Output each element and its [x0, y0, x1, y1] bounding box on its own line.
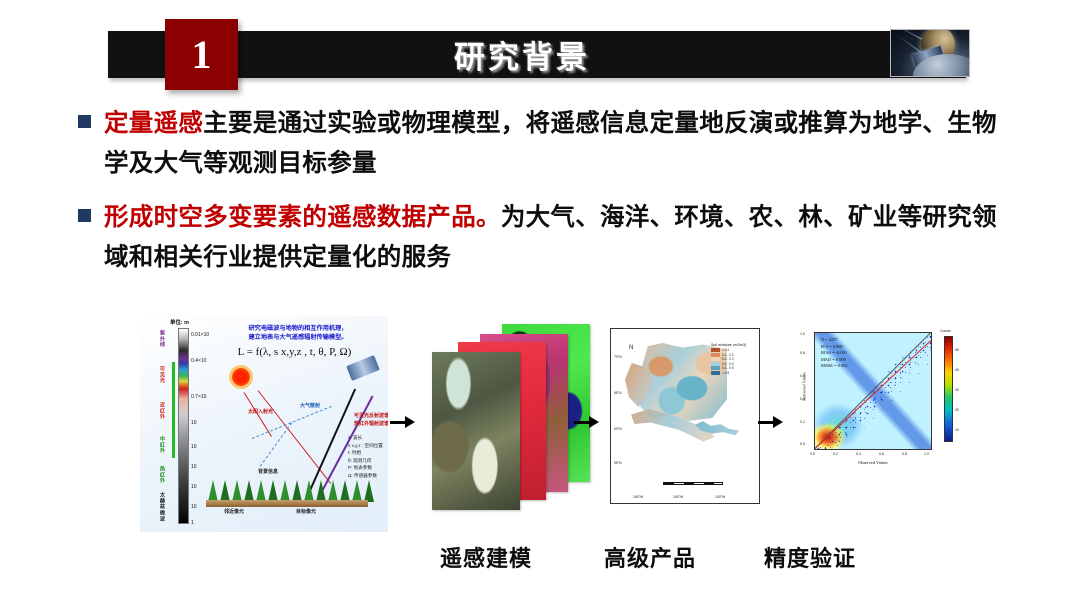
panel1-title: 研究电磁波与地物的相互作用机理， 建立地表与大气遥感辐射传输模型。 — [212, 324, 384, 342]
scatter-ylabel: Retrieved Values — [802, 347, 807, 427]
spectrum-band-microwave: 微波 — [159, 510, 166, 528]
colorbar-tick-3: 20 — [955, 408, 959, 412]
bullet-2-highlight: 形成时空多变要素的遥感数据产品。 — [104, 204, 501, 231]
map-ytick-2: 60°N — [614, 427, 622, 431]
legend-swatch — [711, 371, 720, 375]
bullet-item-2-text: 形成时空多变要素的遥感数据产品。为大气、海洋、环境、农、林、矿业等研究领域和相关… — [104, 198, 1018, 278]
density-colorbar — [944, 336, 953, 442]
figure-row: 单位: m 0.01×10 0.4×10 0.7×10 10 10 10 10 … — [140, 312, 970, 534]
spectrum-band-visible: 可见光 — [159, 366, 166, 400]
scatter-xtick-2: 0.4 — [856, 452, 861, 456]
bullet-1-body: 主要是通过实验或物理模型，将遥感信息定量地反演或推算为地学、生物学及大气等观测目… — [104, 110, 997, 177]
scatter-ytick-0: 0.0 — [800, 442, 805, 446]
sensor-path-label-2: 热红外辐射波谱 — [354, 420, 388, 427]
legend-label: > 0.5 — [722, 371, 729, 375]
scatter-xtick-4: 0.8 — [902, 452, 907, 456]
background-label: 背景信息 — [258, 468, 278, 475]
arrow-right-icon-1 — [390, 412, 416, 432]
arrow-right-icon-3 — [758, 412, 784, 432]
multispectral-image-stack — [416, 312, 596, 534]
spectrum-tick-0: 0.01×10 — [191, 332, 209, 338]
scatter-plot-area: N = 4257 R^2 = 0.889 BIAS = -0.001 MAD =… — [814, 332, 932, 450]
bullet-list: 定量遥感主要是通过实验或物理模型，将遥感信息定量地反演或推算为地学、生物学及大气… — [78, 104, 1018, 292]
panel1-title-line2: 建立地表与大气遥感辐射传输模型。 — [212, 333, 384, 342]
legend-row: > 0.5 — [711, 371, 749, 375]
legend-p: P: 地表参数 — [348, 464, 383, 472]
legend-row: 0.3 - 0.4 — [711, 362, 749, 366]
colorbar-tick-2: 30 — [955, 388, 959, 392]
panel1-variable-legend: λ: 波长 s x,y,z : 空间位置 t: 时相 θ: 观测几何 P: 地表… — [348, 434, 383, 479]
legend-label: 0.3 - 0.4 — [722, 362, 734, 366]
spectrum-tick-7: 10 — [191, 504, 197, 510]
map-xtick-0: 160°W — [633, 495, 643, 499]
panel1-title-line1: 研究电磁波与地物的相互作用机理， — [212, 324, 384, 333]
legend-label: 0.1 - 0.2 — [722, 353, 734, 357]
spectrum-scale: 单位: m 0.01×10 0.4×10 0.7×10 10 10 10 10 … — [156, 320, 196, 528]
colorbar-tick-1: 40 — [955, 368, 959, 372]
legend-t: t: 时相 — [348, 449, 383, 457]
legend-row: 0.4 - 0.5 — [711, 366, 749, 370]
satellite-sensor-icon — [346, 355, 380, 381]
scatter-xtick-3: 0.6 — [879, 452, 884, 456]
legend-swatch — [711, 353, 720, 357]
legend-s: s x,y,z : 空间位置 — [348, 442, 383, 450]
spectrum-band-tir: 热红外 — [159, 466, 166, 494]
image-layer-natural — [432, 352, 520, 510]
bullet-item-1-text: 定量遥感主要是通过实验或物理模型，将遥感信息定量地反演或推算为地学、生物学及大气… — [104, 104, 1018, 184]
visible-range-marker — [172, 362, 175, 458]
satellite-earth-photo-icon — [890, 29, 970, 77]
map-scalebar — [663, 482, 723, 485]
spectrum-band-nir: 近红外 — [159, 402, 166, 434]
spectrum-tick-8: 1 — [191, 520, 194, 526]
arrow-right-icon-2 — [574, 412, 600, 432]
section-number-badge: 1 — [165, 19, 238, 90]
bullet-item-2: 形成时空多变要素的遥感数据产品。为大气、海洋、环境、农、林、矿业等研究领域和相关… — [78, 198, 1018, 278]
caption-validation: 精度验证 — [764, 541, 856, 573]
map-ytick-0: 70°N — [614, 355, 622, 359]
legend-row: 0.2 - 0.3 — [711, 357, 749, 361]
legend-row: 0.1 - 0.2 — [711, 353, 749, 357]
bg-radiance-label: 邻近像元 — [224, 508, 244, 515]
scatter-ytick-5: 1.0 — [800, 332, 805, 336]
legend-label: < 0.1 — [722, 348, 729, 352]
spectrum-tick-4: 10 — [191, 444, 197, 450]
spectrum-tick-5: 10 — [191, 464, 197, 470]
legend-swatch — [711, 348, 720, 352]
radiative-transfer-diagram: 单位: m 0.01×10 0.4×10 0.7×10 10 10 10 10 … — [140, 316, 388, 532]
scatter-xlabel: Observed Values — [814, 460, 932, 465]
scatter-xtick-5: 1.0 — [924, 452, 929, 456]
forest-canopy-illustration — [208, 476, 366, 502]
colorbar-title: Counts — [940, 329, 951, 333]
map-legend: Soil moisture (m3/m3) < 0.1 0.1 - 0.2 0.… — [711, 343, 749, 375]
sun-ray-label: 太阳入射光 — [248, 408, 273, 415]
sun-icon — [232, 368, 250, 386]
legend-lambda: λ: 波长 — [348, 434, 383, 442]
bullet-item-1: 定量遥感主要是通过实验或物理模型，将遥感信息定量地反演或推算为地学、生物学及大气… — [78, 104, 1018, 184]
stat-bias: BIAS = -0.001 — [821, 350, 848, 357]
spectrum-band-uv: 紫外线 — [159, 330, 166, 360]
sensor-path-label-1: 可见光反射波谱 — [354, 412, 388, 419]
radiative-transfer-formula: L = f(λ, s x,y,z , t, θ, P, Ω) — [212, 346, 377, 358]
map-legend-title: Soil moisture (m3/m3) — [711, 343, 749, 347]
accuracy-validation-scatter: N = 4257 R^2 = 0.889 BIAS = -0.001 MAD =… — [790, 326, 970, 506]
legend-label: 0.4 - 0.5 — [722, 366, 734, 370]
scatter-xtick-0: 0.0 — [810, 452, 815, 456]
stat-rmse: RMSE = 0.062 — [821, 363, 848, 370]
bullet-1-highlight: 定量遥感 — [104, 110, 203, 137]
legend-swatch — [711, 357, 720, 361]
caption-products: 高级产品 — [604, 541, 696, 573]
spectrum-colorbar — [178, 328, 189, 524]
caption-modeling: 遥感建模 — [440, 541, 532, 573]
spectrum-tick-3: 10 — [191, 420, 197, 426]
spectrum-tick-2: 0.7×10 — [191, 394, 206, 400]
legend-theta: θ: 观测几何 — [348, 457, 383, 465]
colorbar-tick-0: 50 — [955, 348, 959, 352]
legend-row: < 0.1 — [711, 348, 749, 352]
map-xtick-1: 150°W — [673, 495, 683, 499]
spectrum-unit-label: 单位: m — [170, 318, 189, 326]
legend-swatch — [711, 366, 720, 370]
spectrum-tick-1: 0.4×10 — [191, 358, 206, 364]
scatter-xtick-1: 0.2 — [833, 452, 838, 456]
legend-swatch — [711, 362, 720, 366]
alaska-product-map: N Soil moisture (m3/m3) < 0.1 0.1 - 0.2 … — [610, 328, 760, 504]
colorbar-tick-4: 10 — [955, 428, 959, 432]
legend-label: 0.2 - 0.3 — [722, 357, 734, 361]
square-bullet-icon — [78, 115, 91, 128]
target-radiance-label: 目标像元 — [296, 508, 316, 515]
ground-surface — [206, 500, 368, 507]
map-ytick-3: 55°N — [614, 461, 622, 465]
map-ytick-1: 65°N — [614, 391, 622, 395]
square-bullet-icon-2 — [78, 209, 91, 222]
figure-captions: 遥感建模 高级产品 精度验证 — [0, 541, 1080, 581]
validation-statistics: N = 4257 R^2 = 0.889 BIAS = -0.001 MAD =… — [821, 337, 848, 370]
atmos-scatter-label: 大气散射 — [300, 402, 320, 409]
map-xtick-2: 140°W — [715, 495, 725, 499]
spectrum-band-mir: 中红外 — [159, 436, 166, 466]
spectrum-tick-6: 10 — [191, 484, 197, 490]
